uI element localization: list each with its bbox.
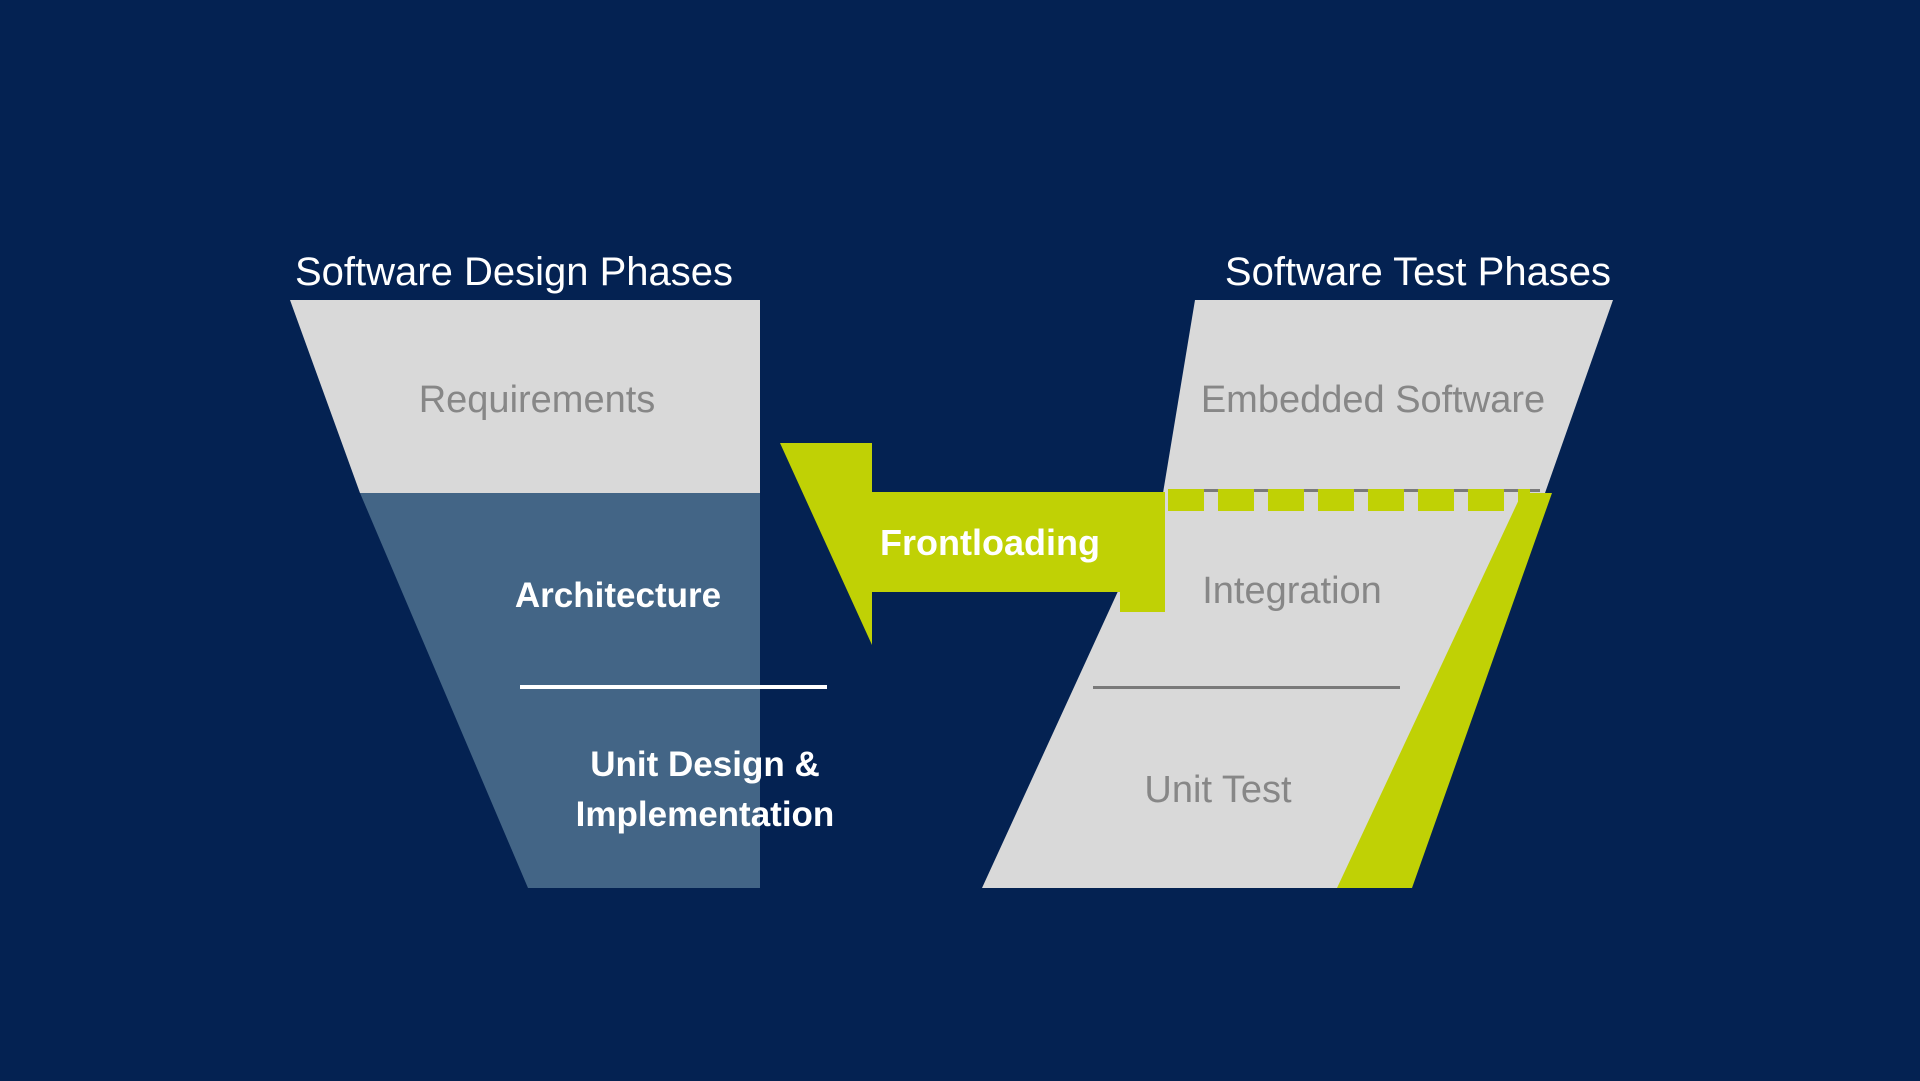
v-model-diagram: Frontloading Software Design Phases Soft…	[0, 0, 1920, 1081]
left-phase-label-requirements: Requirements	[419, 379, 656, 421]
right-inner-divider	[1093, 686, 1400, 689]
right-phase-label-unit-test: Unit Test	[1144, 769, 1292, 811]
left-phase-label-unit-design-line2: Implementation	[576, 795, 835, 834]
left-phase-label-architecture: Architecture	[515, 576, 721, 615]
left-phase-label-unit-design-line1: Unit Design &	[590, 745, 819, 784]
diagram-canvas: Frontloading Software Design Phases Soft…	[0, 0, 1920, 1081]
right-phase-label-integration: Integration	[1202, 570, 1382, 612]
left-inner-divider	[520, 685, 827, 689]
right-column-heading: Software Test Phases	[1225, 250, 1611, 294]
right-phase-label-embedded-software: Embedded Software	[1201, 379, 1545, 421]
left-column-heading: Software Design Phases	[295, 250, 733, 294]
frontloading-arrow-label: Frontloading	[880, 522, 1100, 563]
